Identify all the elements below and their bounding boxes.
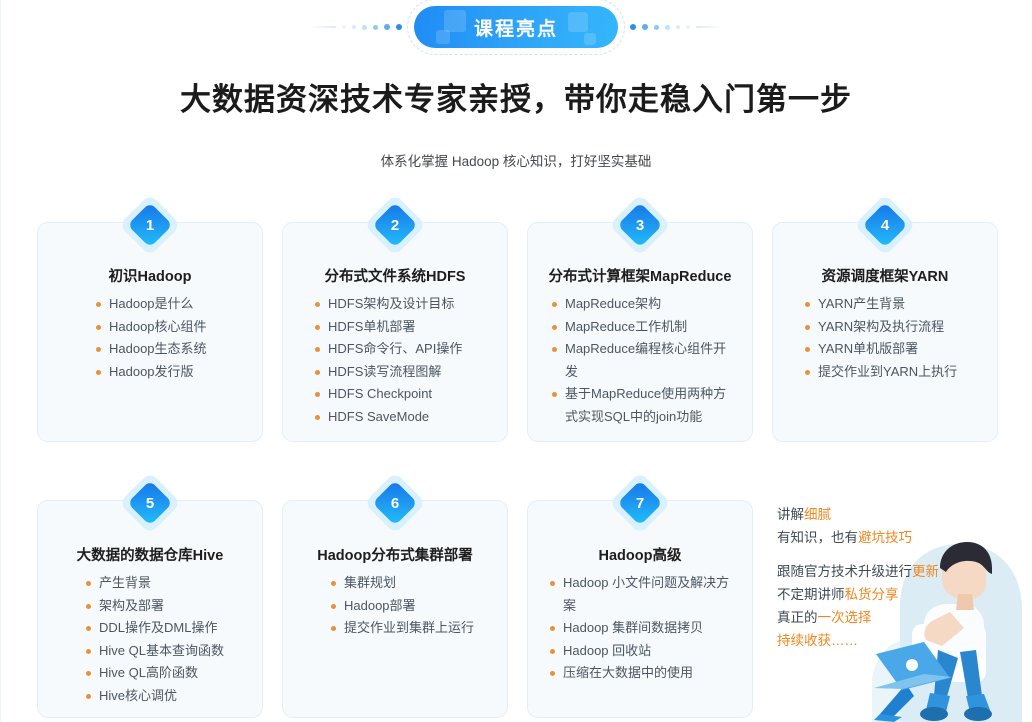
bullet-icon [331, 626, 336, 631]
bullet-icon [96, 370, 101, 375]
promo-plain: 讲解 [777, 507, 804, 522]
deco-dot [362, 25, 367, 30]
deco-line-right [696, 26, 722, 28]
card-number-badge: 7 [615, 478, 665, 528]
page-subtitle: 体系化掌握 Hadoop 核心知识，打好坚实基础 [0, 150, 1032, 170]
card-title: 大数据的数据仓库Hive [38, 544, 262, 565]
bullet-icon [315, 325, 320, 330]
decoration-left [310, 24, 402, 30]
list-item-label: YARN产生背景 [818, 293, 983, 316]
bullet-icon [550, 649, 555, 654]
card-title: 分布式文件系统HDFS [283, 265, 507, 286]
bullet-icon [96, 325, 101, 330]
promo-text-block: 讲解细腻 有知识，也有避坑技巧 跟随官方技术升级进行更新 不定期讲师私货分享 真… [777, 503, 977, 652]
promo-line: 讲解细腻 [777, 503, 977, 526]
promo-plain: 真正的 [777, 610, 818, 625]
list-item-label: HDFS Checkpoint [328, 383, 495, 406]
section-badge-row: 课程亮点 [0, 4, 1032, 50]
promo-highlight: 细腻 [804, 507, 831, 522]
list-item: 提交作业到YARN上执行 [805, 361, 983, 384]
promo-highlight: 持续收获…… [777, 633, 858, 648]
list-item-label: HDFS单机部署 [328, 316, 495, 339]
card-number-badge: 5 [125, 478, 175, 528]
deco-dot [384, 24, 390, 30]
list-item-label: MapReduce架构 [565, 293, 738, 316]
badge-number: 6 [370, 478, 420, 528]
list-item: 产生背景 [86, 572, 248, 595]
list-item: YARN架构及执行流程 [805, 316, 983, 339]
list-item: 提交作业到集群上运行 [331, 617, 493, 640]
card-number-badge: 4 [860, 200, 910, 250]
list-item-label: HDFS SaveMode [328, 406, 495, 429]
list-item-label: Hive核心调优 [99, 685, 248, 708]
list-item-label: Hadoop 回收站 [563, 640, 742, 663]
list-item: Hadoop部署 [331, 595, 493, 618]
deco-dot [686, 25, 690, 29]
bullet-icon [96, 302, 101, 307]
list-item-label: YARN架构及执行流程 [818, 316, 983, 339]
card-list: 集群规划 Hadoop部署 提交作业到集群上运行 [283, 572, 507, 640]
list-item: Hive QL高阶函数 [86, 662, 248, 685]
list-item-label: 提交作业到集群上运行 [344, 617, 493, 640]
deco-dot [352, 25, 356, 29]
list-item-label: Hadoop是什么 [109, 293, 246, 316]
highlight-card[interactable]: 分布式计算框架MapReduce MapReduce架构 MapReduce工作… [527, 222, 753, 442]
highlight-card[interactable]: 大数据的数据仓库Hive 产生背景 架构及部署 DDL操作及DML操作 Hive… [37, 500, 263, 718]
deco-dot [654, 25, 659, 30]
deco-dot [342, 25, 346, 29]
deco-dot [676, 25, 680, 29]
list-item-label: Hive QL基本查询函数 [99, 640, 248, 663]
badge-number: 4 [860, 200, 910, 250]
card-title: 资源调度框架YARN [773, 265, 997, 286]
card-list: Hadoop是什么 Hadoop核心组件 Hadoop生态系统 Hadoop发行… [38, 293, 262, 383]
deco-dot [373, 25, 378, 30]
bullet-icon [86, 671, 91, 676]
list-item: HDFS架构及设计目标 [315, 293, 495, 316]
decoration-right [630, 24, 722, 30]
bullet-icon [550, 626, 555, 631]
list-item: Hadoop 回收站 [550, 640, 742, 663]
promo-line: 有知识，也有避坑技巧 [777, 526, 977, 549]
promo-highlight: 私货分享 [845, 587, 899, 602]
list-item: HDFS SaveMode [315, 406, 495, 429]
card-title: Hadoop高级 [528, 544, 752, 565]
card-list: YARN产生背景 YARN架构及执行流程 YARN单机版部署 提交作业到YARN… [773, 293, 997, 383]
badge-number: 2 [370, 200, 420, 250]
list-item-label: Hadoop生态系统 [109, 338, 246, 361]
card-list: HDFS架构及设计目标 HDFS单机部署 HDFS命令行、API操作 HDFS读… [283, 293, 507, 428]
list-item-label: Hadoop 小文件问题及解决方案 [563, 572, 742, 617]
list-item: MapReduce工作机制 [552, 316, 738, 339]
list-item: Hadoop发行版 [96, 361, 246, 384]
list-item: HDFS Checkpoint [315, 383, 495, 406]
list-item-label: Hadoop 集群间数据拷贝 [563, 617, 742, 640]
card-number-badge: 6 [370, 478, 420, 528]
card-list: Hadoop 小文件问题及解决方案 Hadoop 集群间数据拷贝 Hadoop … [528, 572, 752, 685]
bullet-icon [552, 302, 557, 307]
list-item-label: HDFS读写流程图解 [328, 361, 495, 384]
bullet-icon [315, 370, 320, 375]
promo-line: 真正的一次选择 [777, 606, 977, 629]
list-item: Hive核心调优 [86, 685, 248, 708]
list-item: Hadoop 小文件问题及解决方案 [550, 572, 742, 617]
bullet-icon [805, 370, 810, 375]
list-item: MapReduce编程核心组件开发 [552, 338, 738, 383]
list-item-label: 集群规划 [344, 572, 493, 595]
list-item-label: Hadoop发行版 [109, 361, 246, 384]
list-item: 压缩在大数据中的使用 [550, 662, 742, 685]
highlight-card[interactable]: Hadoop高级 Hadoop 小文件问题及解决方案 Hadoop 集群间数据拷… [527, 500, 753, 718]
badge-number: 7 [615, 478, 665, 528]
list-item-label: HDFS架构及设计目标 [328, 293, 495, 316]
course-highlights-page: 课程亮点 大数据资深技术专家亲授，带你走稳入门第一步 体系化掌握 Hadoop … [0, 0, 1032, 722]
list-item: YARN产生背景 [805, 293, 983, 316]
badge-decor-square [584, 33, 596, 45]
deco-dot [630, 24, 636, 30]
bullet-icon [315, 347, 320, 352]
badge-label: 课程亮点 [474, 14, 558, 41]
highlight-card[interactable]: Hadoop分布式集群部署 集群规划 Hadoop部署 提交作业到集群上运行 [282, 500, 508, 718]
list-item-label: 基于MapReduce使用两种方式实现SQL中的join功能 [565, 383, 738, 428]
bullet-icon [331, 581, 336, 586]
bullet-icon [315, 302, 320, 307]
badge-pill: 课程亮点 [414, 6, 618, 48]
list-item: Hadoop是什么 [96, 293, 246, 316]
badge-decor-square [436, 30, 450, 44]
bullet-icon [315, 392, 320, 397]
list-item: Hive QL基本查询函数 [86, 640, 248, 663]
promo-spacer [777, 549, 977, 560]
list-item: 基于MapReduce使用两种方式实现SQL中的join功能 [552, 383, 738, 428]
list-item: Hadoop生态系统 [96, 338, 246, 361]
badge-number: 1 [125, 200, 175, 250]
highlight-card[interactable]: 初识Hadoop Hadoop是什么 Hadoop核心组件 Hadoop生态系统… [37, 222, 263, 442]
promo-line: 不定期讲师私货分享 [777, 583, 977, 606]
bullet-icon [552, 347, 557, 352]
promo-line: 持续收获…… [777, 629, 977, 652]
list-item: 架构及部署 [86, 595, 248, 618]
bullet-icon [331, 604, 336, 609]
deco-line-left [310, 26, 336, 28]
card-list: 产生背景 架构及部署 DDL操作及DML操作 Hive QL基本查询函数 Hiv… [38, 572, 262, 707]
card-number-badge: 3 [615, 200, 665, 250]
page-title: 大数据资深技术专家亲授，带你走稳入门第一步 [0, 74, 1032, 119]
list-item: MapReduce架构 [552, 293, 738, 316]
bullet-icon [86, 581, 91, 586]
badge-pill-wrapper: 课程亮点 [414, 6, 618, 48]
list-item: 集群规划 [331, 572, 493, 595]
list-item: Hadoop核心组件 [96, 316, 246, 339]
list-item-label: Hadoop部署 [344, 595, 493, 618]
bullet-icon [86, 649, 91, 654]
card-title: 分布式计算框架MapReduce [528, 265, 752, 286]
bullet-icon [86, 604, 91, 609]
bullet-icon [805, 302, 810, 307]
card-title: Hadoop分布式集群部署 [283, 544, 507, 565]
bullet-icon [552, 325, 557, 330]
card-title: 初识Hadoop [38, 265, 262, 286]
promo-highlight: 一次选择 [818, 610, 872, 625]
promo-plain: 跟随官方技术升级进行 [777, 564, 912, 579]
deco-dot [396, 24, 402, 30]
promo-plain: 不定期讲师 [777, 587, 845, 602]
bullet-icon [805, 325, 810, 330]
highlight-card[interactable]: 资源调度框架YARN YARN产生背景 YARN架构及执行流程 YARN单机版部… [772, 222, 998, 442]
bullet-icon [805, 347, 810, 352]
badge-decor-square [444, 10, 466, 32]
list-item-label: YARN单机版部署 [818, 338, 983, 361]
list-item-label: 产生背景 [99, 572, 248, 595]
bullet-icon [550, 581, 555, 586]
list-item-label: DDL操作及DML操作 [99, 617, 248, 640]
card-number-badge: 1 [125, 200, 175, 250]
list-item-label: Hadoop核心组件 [109, 316, 246, 339]
promo-highlight: 避坑技巧 [858, 530, 912, 545]
promo-highlight: 更新 [912, 564, 939, 579]
card-list: MapReduce架构 MapReduce工作机制 MapReduce编程核心组… [528, 293, 752, 428]
list-item-label: MapReduce编程核心组件开发 [565, 338, 738, 383]
badge-decor-square [568, 12, 588, 32]
list-item: Hadoop 集群间数据拷贝 [550, 617, 742, 640]
bullet-icon [315, 415, 320, 420]
list-item-label: Hive QL高阶函数 [99, 662, 248, 685]
bullet-icon [552, 392, 557, 397]
list-item: HDFS读写流程图解 [315, 361, 495, 384]
list-item-label: 压缩在大数据中的使用 [563, 662, 742, 685]
promo-plain: 有知识，也有 [777, 530, 858, 545]
badge-number: 3 [615, 200, 665, 250]
deco-dot [665, 25, 670, 30]
list-item-label: HDFS命令行、API操作 [328, 338, 495, 361]
bullet-icon [550, 671, 555, 676]
promo-line: 跟随官方技术升级进行更新 [777, 560, 977, 583]
highlight-card[interactable]: 分布式文件系统HDFS HDFS架构及设计目标 HDFS单机部署 HDFS命令行… [282, 222, 508, 442]
bullet-icon [86, 626, 91, 631]
bullet-icon [96, 347, 101, 352]
list-item-label: 架构及部署 [99, 595, 248, 618]
list-item: YARN单机版部署 [805, 338, 983, 361]
bullet-icon [86, 694, 91, 699]
list-item-label: MapReduce工作机制 [565, 316, 738, 339]
card-number-badge: 2 [370, 200, 420, 250]
list-item-label: 提交作业到YARN上执行 [818, 361, 983, 384]
list-item: HDFS命令行、API操作 [315, 338, 495, 361]
list-item: HDFS单机部署 [315, 316, 495, 339]
badge-number: 5 [125, 478, 175, 528]
list-item: DDL操作及DML操作 [86, 617, 248, 640]
deco-dot [642, 24, 648, 30]
